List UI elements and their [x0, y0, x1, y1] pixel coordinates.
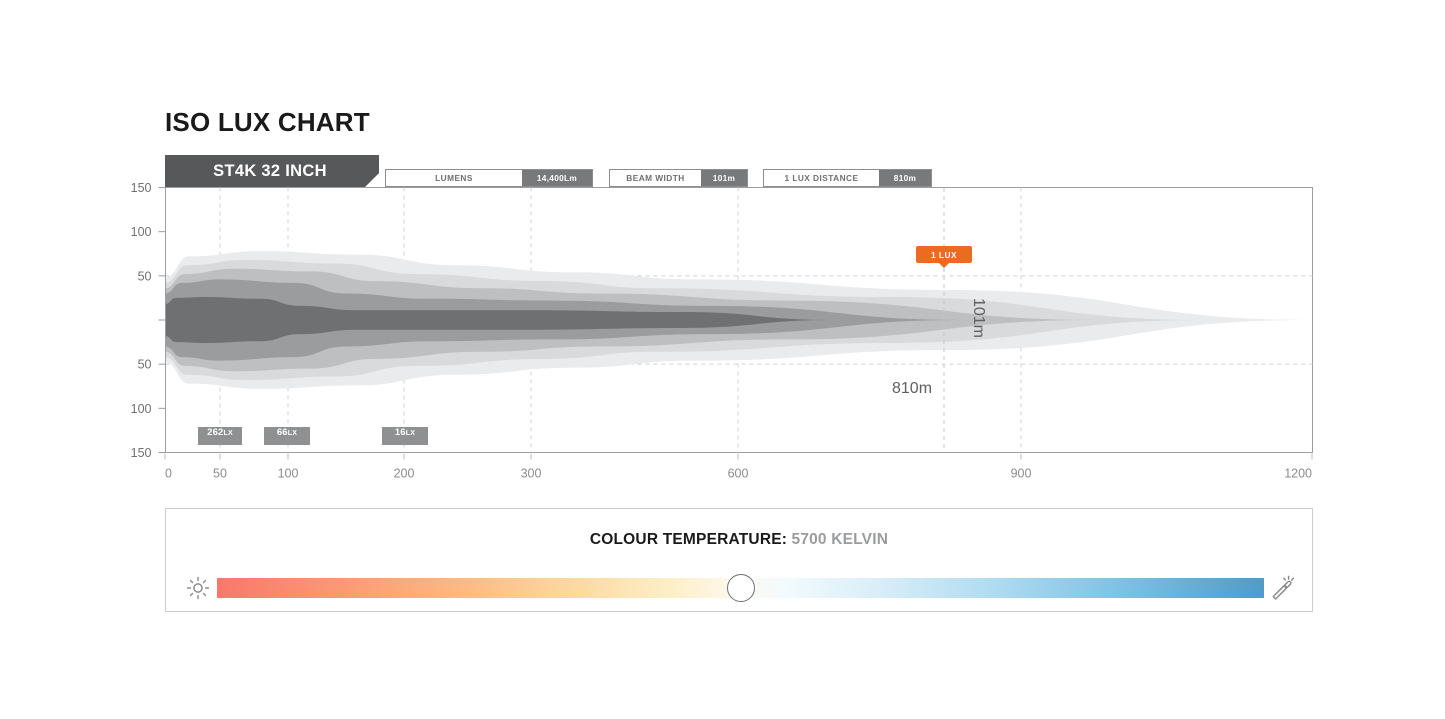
- x-axis-ticks: [165, 454, 1312, 460]
- colour-temperature-heading: COLOUR TEMPERATURE: 5700 KELVIN: [166, 531, 1312, 549]
- lux-marker-unit: LX: [406, 430, 415, 437]
- lux-marker-unit: LX: [288, 430, 297, 437]
- lux-marker-chip: 16 LX: [382, 427, 428, 445]
- lux-marker-unit: LX: [224, 430, 233, 437]
- svg-text:150: 150: [131, 181, 152, 195]
- beam-plot: 1501005050100150 0501002003006009001200 …: [0, 0, 1445, 500]
- lux-marker-value: 66: [277, 427, 288, 438]
- lux-marker-value: 16: [395, 427, 406, 438]
- one-lux-distance-annotation: 810m: [892, 380, 932, 397]
- iso-lux-chart-page: ISO LUX CHART ST4K 32 INCH LUMENS 14,400…: [0, 0, 1445, 719]
- svg-text:900: 900: [1011, 467, 1032, 481]
- svg-text:100: 100: [278, 467, 299, 481]
- y-axis-ticks: [159, 188, 166, 453]
- svg-text:100: 100: [131, 402, 152, 416]
- svg-text:100: 100: [131, 225, 152, 239]
- svg-text:200: 200: [394, 467, 415, 481]
- beam-plot-svg: 1501005050100150 0501002003006009001200 …: [0, 0, 1445, 500]
- svg-text:50: 50: [138, 358, 152, 372]
- sun-icon: [186, 576, 210, 600]
- colour-temperature-slider[interactable]: [166, 565, 1314, 611]
- y-axis-tick-labels: 1501005050100150: [131, 181, 152, 460]
- svg-text:600: 600: [728, 467, 749, 481]
- torch-icon: [1271, 575, 1295, 601]
- beam-width-annotation: 101m: [970, 298, 987, 338]
- svg-text:50: 50: [138, 269, 152, 283]
- svg-text:0: 0: [165, 467, 172, 481]
- colour-temperature-value: 5700 KELVIN: [791, 531, 888, 548]
- colour-temperature-panel: COLOUR TEMPERATURE: 5700 KELVIN: [165, 508, 1313, 612]
- svg-text:150: 150: [131, 446, 152, 460]
- colour-temperature-label: COLOUR TEMPERATURE:: [590, 531, 787, 548]
- svg-text:1200: 1200: [1284, 467, 1312, 481]
- colour-temperature-slider-thumb[interactable]: [727, 574, 755, 602]
- one-lux-callout-label: 1 LUX: [931, 250, 957, 260]
- x-axis-tick-labels: 0501002003006009001200: [165, 467, 1312, 481]
- lux-marker-value: 262: [207, 427, 223, 438]
- svg-text:50: 50: [213, 467, 227, 481]
- lux-marker-chip: 66 LX: [264, 427, 310, 445]
- one-lux-callout: 1 LUX: [916, 246, 972, 263]
- svg-text:300: 300: [521, 467, 542, 481]
- lux-marker-chip: 262 LX: [198, 427, 242, 445]
